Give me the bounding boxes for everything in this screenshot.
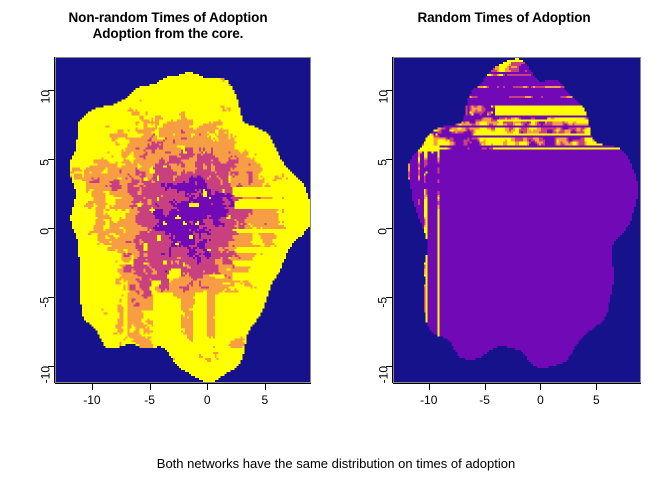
x-axis-nonrandom: -10-505 [55,383,311,423]
y-tick-label: -5 [376,297,390,308]
y-tick-label: -10 [376,366,390,383]
panel-title-nonrandom: Non-random Times of Adoption Adoption fr… [0,10,336,42]
x-axis-line [55,383,311,384]
x-tick [429,384,430,390]
y-tick-label: 10 [376,90,390,103]
panel-title-line-1: Non-random Times of Adoption [0,10,336,26]
x-tick [150,384,151,390]
panel-title-line-2: Adoption from the core. [0,26,336,42]
x-tick [540,384,541,390]
x-tick-label: -5 [144,393,155,407]
x-tick-label: 5 [262,393,269,407]
panel-nonrandom: Non-random Times of Adoption Adoption fr… [0,0,336,480]
panel-title-random: Random Times of Adoption [336,10,672,26]
x-tick-label: 5 [593,393,600,407]
x-axis-random: -10-505 [393,383,641,423]
x-axis-line [393,383,641,384]
y-axis-random: 1050-5-10 [353,57,393,383]
x-tick [265,384,266,390]
y-axis-line [54,57,55,383]
y-tick-label: -5 [38,297,52,308]
plot-area-random [393,57,641,383]
x-tick [92,384,93,390]
x-tick-label: -5 [479,393,490,407]
heatmap-raster-nonrandom [56,58,310,382]
x-tick-label: 0 [537,393,544,407]
y-tick-label: 5 [38,159,52,166]
x-tick-label: -10 [420,393,437,407]
figure-caption: Both networks have the same distribution… [0,456,672,471]
panel-random: Random Times of Adoption 1050-5-10 -10-5… [336,0,672,480]
y-tick-label: 10 [38,90,52,103]
x-tick [207,384,208,390]
y-tick-label: 0 [376,228,390,235]
x-tick [485,384,486,390]
y-tick-label: -10 [38,366,52,383]
x-tick [596,384,597,390]
figure-canvas: Non-random Times of Adoption Adoption fr… [0,0,672,480]
heatmap-raster-random [394,58,640,382]
panel-title-line-1: Random Times of Adoption [336,10,672,26]
y-tick-label: 0 [38,228,52,235]
x-tick-label: 0 [204,393,211,407]
y-axis-nonrandom: 1050-5-10 [15,57,55,383]
y-tick-label: 5 [376,159,390,166]
plot-area-nonrandom [55,57,311,383]
y-axis-line [392,57,393,383]
x-tick-label: -10 [83,393,100,407]
